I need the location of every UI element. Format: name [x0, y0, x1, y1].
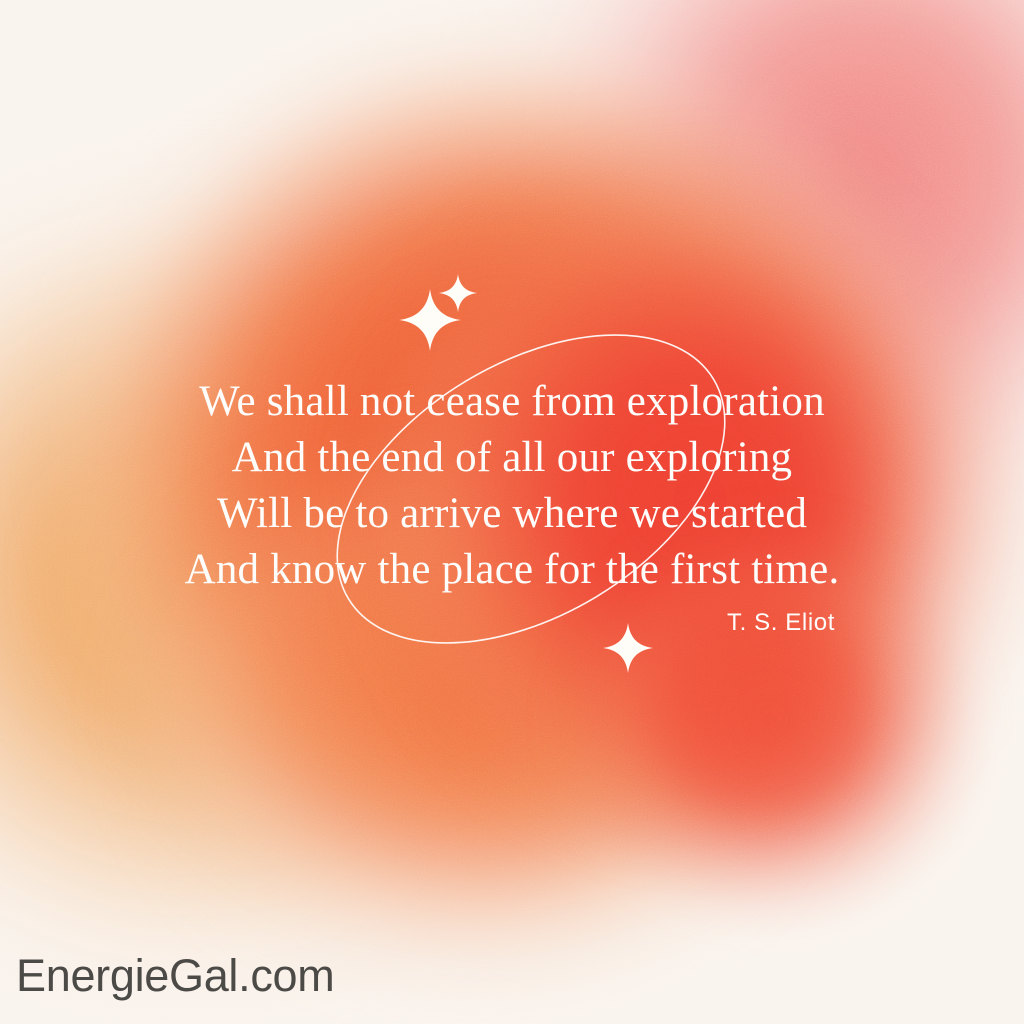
sparkle-star-large — [399, 289, 461, 351]
quote-attribution: T. S. Eliot — [0, 609, 835, 637]
quote-line-3: Will be to arrive where we started — [0, 486, 1024, 542]
quote-block: We shall not cease from exploration And … — [0, 374, 1024, 598]
quote-line-4: And know the place for the first time. — [0, 542, 1024, 598]
quote-line-2: And the end of all our exploring — [0, 430, 1024, 486]
sparkle-star-small — [439, 274, 477, 312]
brand-watermark: EnergieGal.com — [16, 950, 334, 1002]
quote-line-1: We shall not cease from exploration — [0, 374, 1024, 430]
quote-card: We shall not cease from exploration And … — [0, 0, 1024, 1024]
